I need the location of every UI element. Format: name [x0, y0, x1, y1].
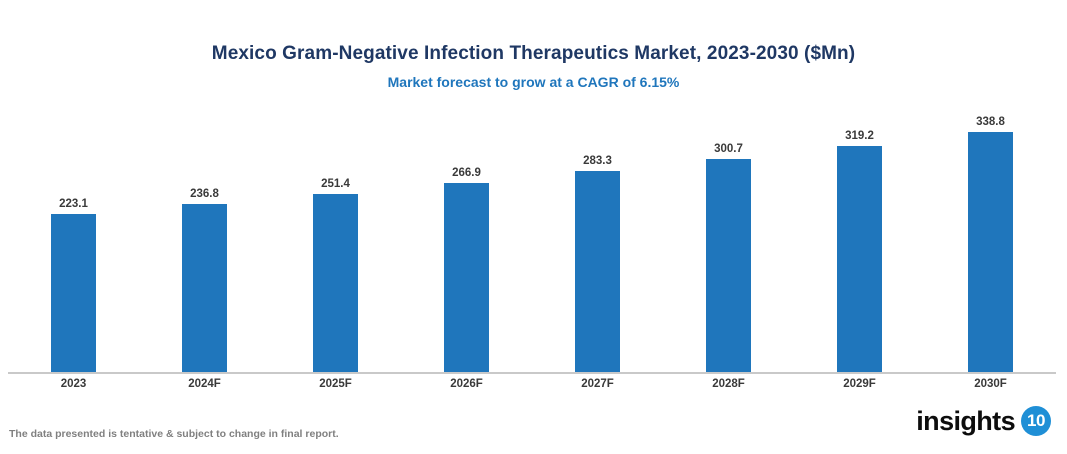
bar-value-label: 300.7 — [714, 143, 743, 155]
title-block: Mexico Gram-Negative Infection Therapeut… — [0, 42, 1067, 92]
bar-group: 300.7 — [663, 110, 794, 372]
bar-group: 223.1 — [8, 110, 139, 372]
bar-group: 283.3 — [532, 110, 663, 372]
x-axis-line — [8, 372, 1056, 374]
bar[interactable] — [444, 183, 489, 372]
x-axis-tick: 2023 — [8, 376, 139, 392]
bar[interactable] — [313, 194, 358, 372]
logo-wordmark: insights — [916, 406, 1015, 436]
bar-group: 236.8 — [139, 110, 270, 372]
insights10-logo: insights 10 — [916, 406, 1051, 436]
x-axis-tick-label: 2023 — [8, 376, 139, 392]
x-axis-tick: 2030F — [925, 376, 1056, 392]
logo-badge-icon: 10 — [1021, 406, 1051, 436]
x-axis-tick: 2026F — [401, 376, 532, 392]
plot-area: 223.1236.8251.4266.9283.3300.7319.2338.8 — [8, 110, 1056, 372]
bar[interactable] — [837, 146, 882, 372]
bar-group: 266.9 — [401, 110, 532, 372]
x-axis-tick-label: 2028F — [663, 376, 794, 392]
bar-group: 319.2 — [794, 110, 925, 372]
x-axis-tick: 2028F — [663, 376, 794, 392]
x-axis-tick-label: 2025F — [270, 376, 401, 392]
disclaimer-text: The data presented is tentative & subjec… — [9, 428, 339, 440]
bar[interactable] — [706, 159, 751, 372]
bar-value-label: 283.3 — [583, 155, 612, 167]
bar[interactable] — [51, 214, 96, 372]
chart-subtitle: Market forecast to grow at a CAGR of 6.1… — [0, 72, 1067, 92]
bar[interactable] — [182, 204, 227, 372]
x-axis-tick-label: 2027F — [532, 376, 663, 392]
bar-series: 223.1236.8251.4266.9283.3300.7319.2338.8 — [8, 110, 1056, 372]
bar-group: 338.8 — [925, 110, 1056, 372]
bar-value-label: 251.4 — [321, 178, 350, 190]
bar-group: 251.4 — [270, 110, 401, 372]
chart-canvas: Mexico Gram-Negative Infection Therapeut… — [0, 0, 1067, 454]
x-axis-tick: 2029F — [794, 376, 925, 392]
x-axis-tick-label: 2024F — [139, 376, 270, 392]
x-axis-tick-label: 2030F — [925, 376, 1056, 392]
bar[interactable] — [968, 132, 1013, 372]
bar-value-label: 236.8 — [190, 188, 219, 200]
x-axis-tick-labels: 20232024F2025F2026F2027F2028F2029F2030F — [8, 376, 1056, 392]
x-axis-tick: 2025F — [270, 376, 401, 392]
bar[interactable] — [575, 171, 620, 372]
bar-value-label: 223.1 — [59, 198, 88, 210]
chart-title: Mexico Gram-Negative Infection Therapeut… — [0, 42, 1067, 66]
x-axis-tick: 2027F — [532, 376, 663, 392]
x-axis-tick-label: 2026F — [401, 376, 532, 392]
x-axis-tick-label: 2029F — [794, 376, 925, 392]
bar-value-label: 319.2 — [845, 130, 874, 142]
x-axis-tick: 2024F — [139, 376, 270, 392]
bar-value-label: 338.8 — [976, 116, 1005, 128]
bar-value-label: 266.9 — [452, 167, 481, 179]
